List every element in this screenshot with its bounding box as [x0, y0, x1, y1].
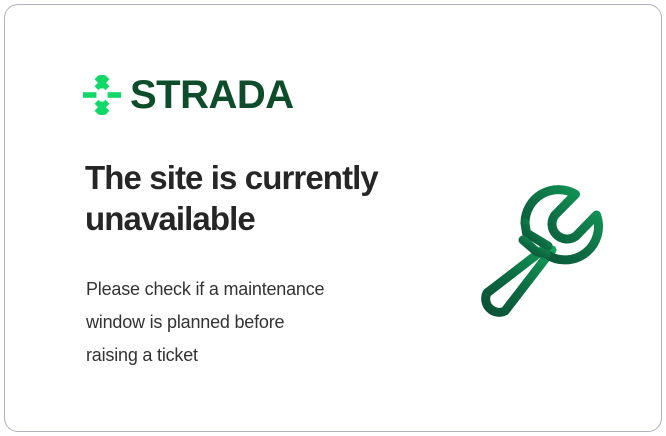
description-line: raising a ticket — [86, 339, 396, 372]
wrench-icon — [460, 160, 620, 320]
brand-logo: STRADA — [83, 73, 294, 117]
page-description: Please check if a maintenance window is … — [86, 273, 396, 372]
strada-asterisk-icon — [83, 75, 121, 115]
description-line: Please check if a maintenance — [86, 273, 396, 306]
description-line: window is planned before — [86, 306, 396, 339]
page-title: The site is currently unavailable — [85, 157, 415, 239]
brand-wordmark: STRADA — [130, 75, 294, 115]
page-root: STRADA The site is currently unavailable… — [0, 0, 666, 436]
status-card: STRADA The site is currently unavailable… — [4, 4, 662, 432]
